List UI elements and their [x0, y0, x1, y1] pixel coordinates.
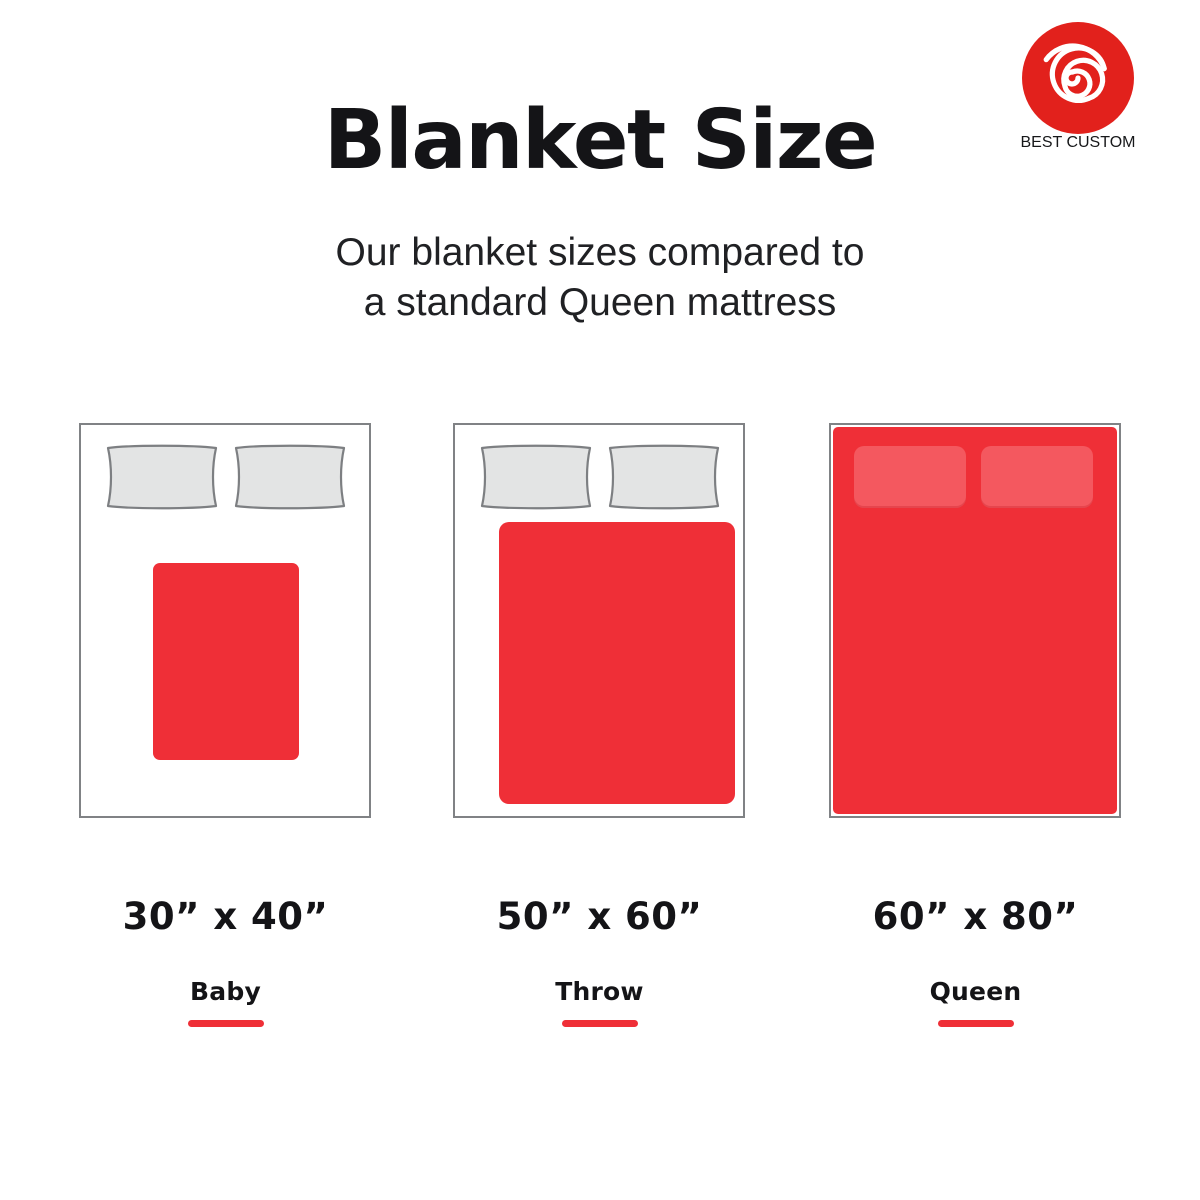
bed-dimension-throw: 50” x 60” — [412, 898, 787, 935]
bed-dimension-queen: 60” x 80” — [788, 898, 1163, 935]
pillow-icon-right — [605, 444, 723, 510]
size-name-underline — [562, 1020, 638, 1027]
bed-caption-throw: 50” x 60” Throw — [412, 898, 787, 1027]
bed-column-baby: 30” x 40” Baby — [38, 420, 413, 1040]
pillow-icon-left — [477, 444, 595, 510]
mattress-outline-baby — [79, 423, 371, 818]
page-subtitle-line-1: Our blanket sizes compared to — [0, 228, 1200, 278]
pillow-icon-right — [231, 444, 349, 510]
page-subtitle-line-2: a standard Queen mattress — [0, 278, 1200, 328]
blanket-swatch-throw — [499, 522, 735, 804]
bed-caption-queen: 60” x 80” Queen — [788, 898, 1163, 1027]
covered-pillow-icon-left — [854, 446, 966, 508]
size-name-underline — [188, 1020, 264, 1027]
bed-dimension-baby: 30” x 40” — [38, 898, 413, 935]
bed-size-name-throw: Throw — [412, 979, 787, 1004]
bed-size-name-queen: Queen — [788, 979, 1163, 1004]
pillow-icon-left — [103, 444, 221, 510]
blanket-swatch-queen — [833, 427, 1117, 814]
bed-column-queen: 60” x 80” Queen — [788, 420, 1163, 1040]
bed-caption-baby: 30” x 40” Baby — [38, 898, 413, 1027]
mattress-outline-throw — [453, 423, 745, 818]
bed-comparison-row: 30” x 40” Baby 50” x 60” Throw — [0, 420, 1200, 1040]
page-subtitle: Our blanket sizes compared to a standard… — [0, 228, 1200, 328]
bed-column-throw: 50” x 60” Throw — [412, 420, 787, 1040]
page-title: Blanket Size — [0, 100, 1200, 182]
bed-size-name-baby: Baby — [38, 979, 413, 1004]
mattress-outline-queen — [829, 423, 1121, 818]
size-name-underline — [938, 1020, 1014, 1027]
covered-pillow-icon-right — [981, 446, 1093, 508]
blanket-swatch-baby — [153, 563, 299, 760]
